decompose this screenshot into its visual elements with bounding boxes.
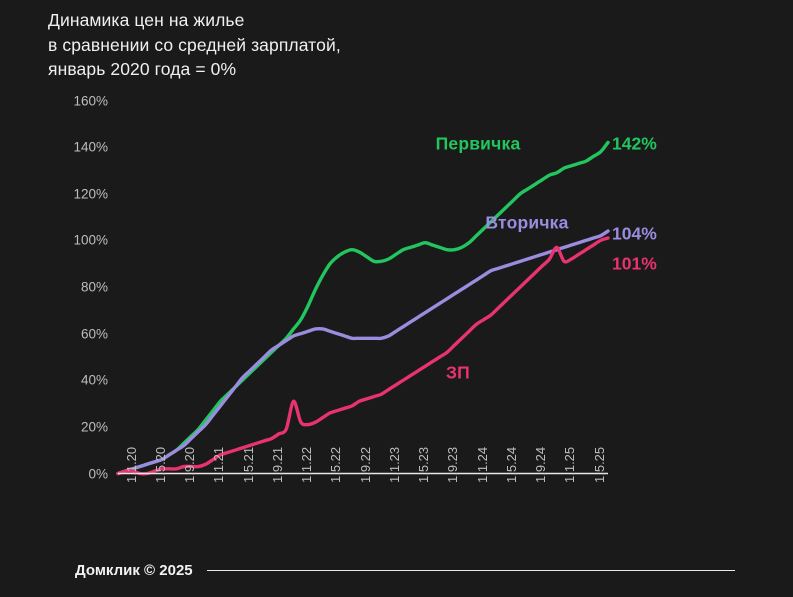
x-axis-tick: 1.1.24 bbox=[475, 447, 490, 483]
chart-screenshot: Динамика цен на жилье в сравнении со сре… bbox=[0, 0, 793, 597]
end-label-primary: 142% bbox=[612, 134, 657, 155]
x-axis-tick: 1.1.20 bbox=[124, 447, 139, 483]
x-axis-tick: 1.9.21 bbox=[270, 447, 285, 483]
x-axis-tick: 1.5.21 bbox=[241, 447, 256, 483]
x-axis-ticks: 1.1.201.5.201.9.201.1.211.5.211.9.211.1.… bbox=[0, 0, 793, 597]
footer-credit: Домклик © 2025 bbox=[75, 562, 193, 579]
footer: Домклик © 2025 bbox=[75, 562, 735, 579]
x-axis-tick: 1.9.24 bbox=[533, 447, 548, 483]
x-axis-tick: 1.5.23 bbox=[416, 447, 431, 483]
x-axis-tick: 1.9.23 bbox=[445, 447, 460, 483]
footer-divider bbox=[207, 570, 735, 572]
series-label-primary: Первичка bbox=[436, 134, 521, 155]
series-label-secondary: Вторичка bbox=[485, 213, 568, 234]
x-axis-tick: 1.9.22 bbox=[358, 447, 373, 483]
end-label-wage: 101% bbox=[612, 254, 657, 275]
x-axis-tick: 1.5.22 bbox=[328, 447, 343, 483]
x-axis-tick: 1.9.20 bbox=[182, 447, 197, 483]
x-axis-tick: 1.1.23 bbox=[387, 447, 402, 483]
x-axis-tick: 1.1.21 bbox=[211, 447, 226, 483]
end-label-secondary: 104% bbox=[612, 224, 657, 245]
x-axis-tick: 1.1.25 bbox=[562, 447, 577, 483]
x-axis-tick: 1.5.24 bbox=[504, 447, 519, 483]
x-axis-tick: 1.1.22 bbox=[299, 447, 314, 483]
series-label-wage: ЗП bbox=[446, 363, 470, 384]
x-axis-tick: 1.5.20 bbox=[153, 447, 168, 483]
x-axis-tick: 1.5.25 bbox=[592, 447, 607, 483]
